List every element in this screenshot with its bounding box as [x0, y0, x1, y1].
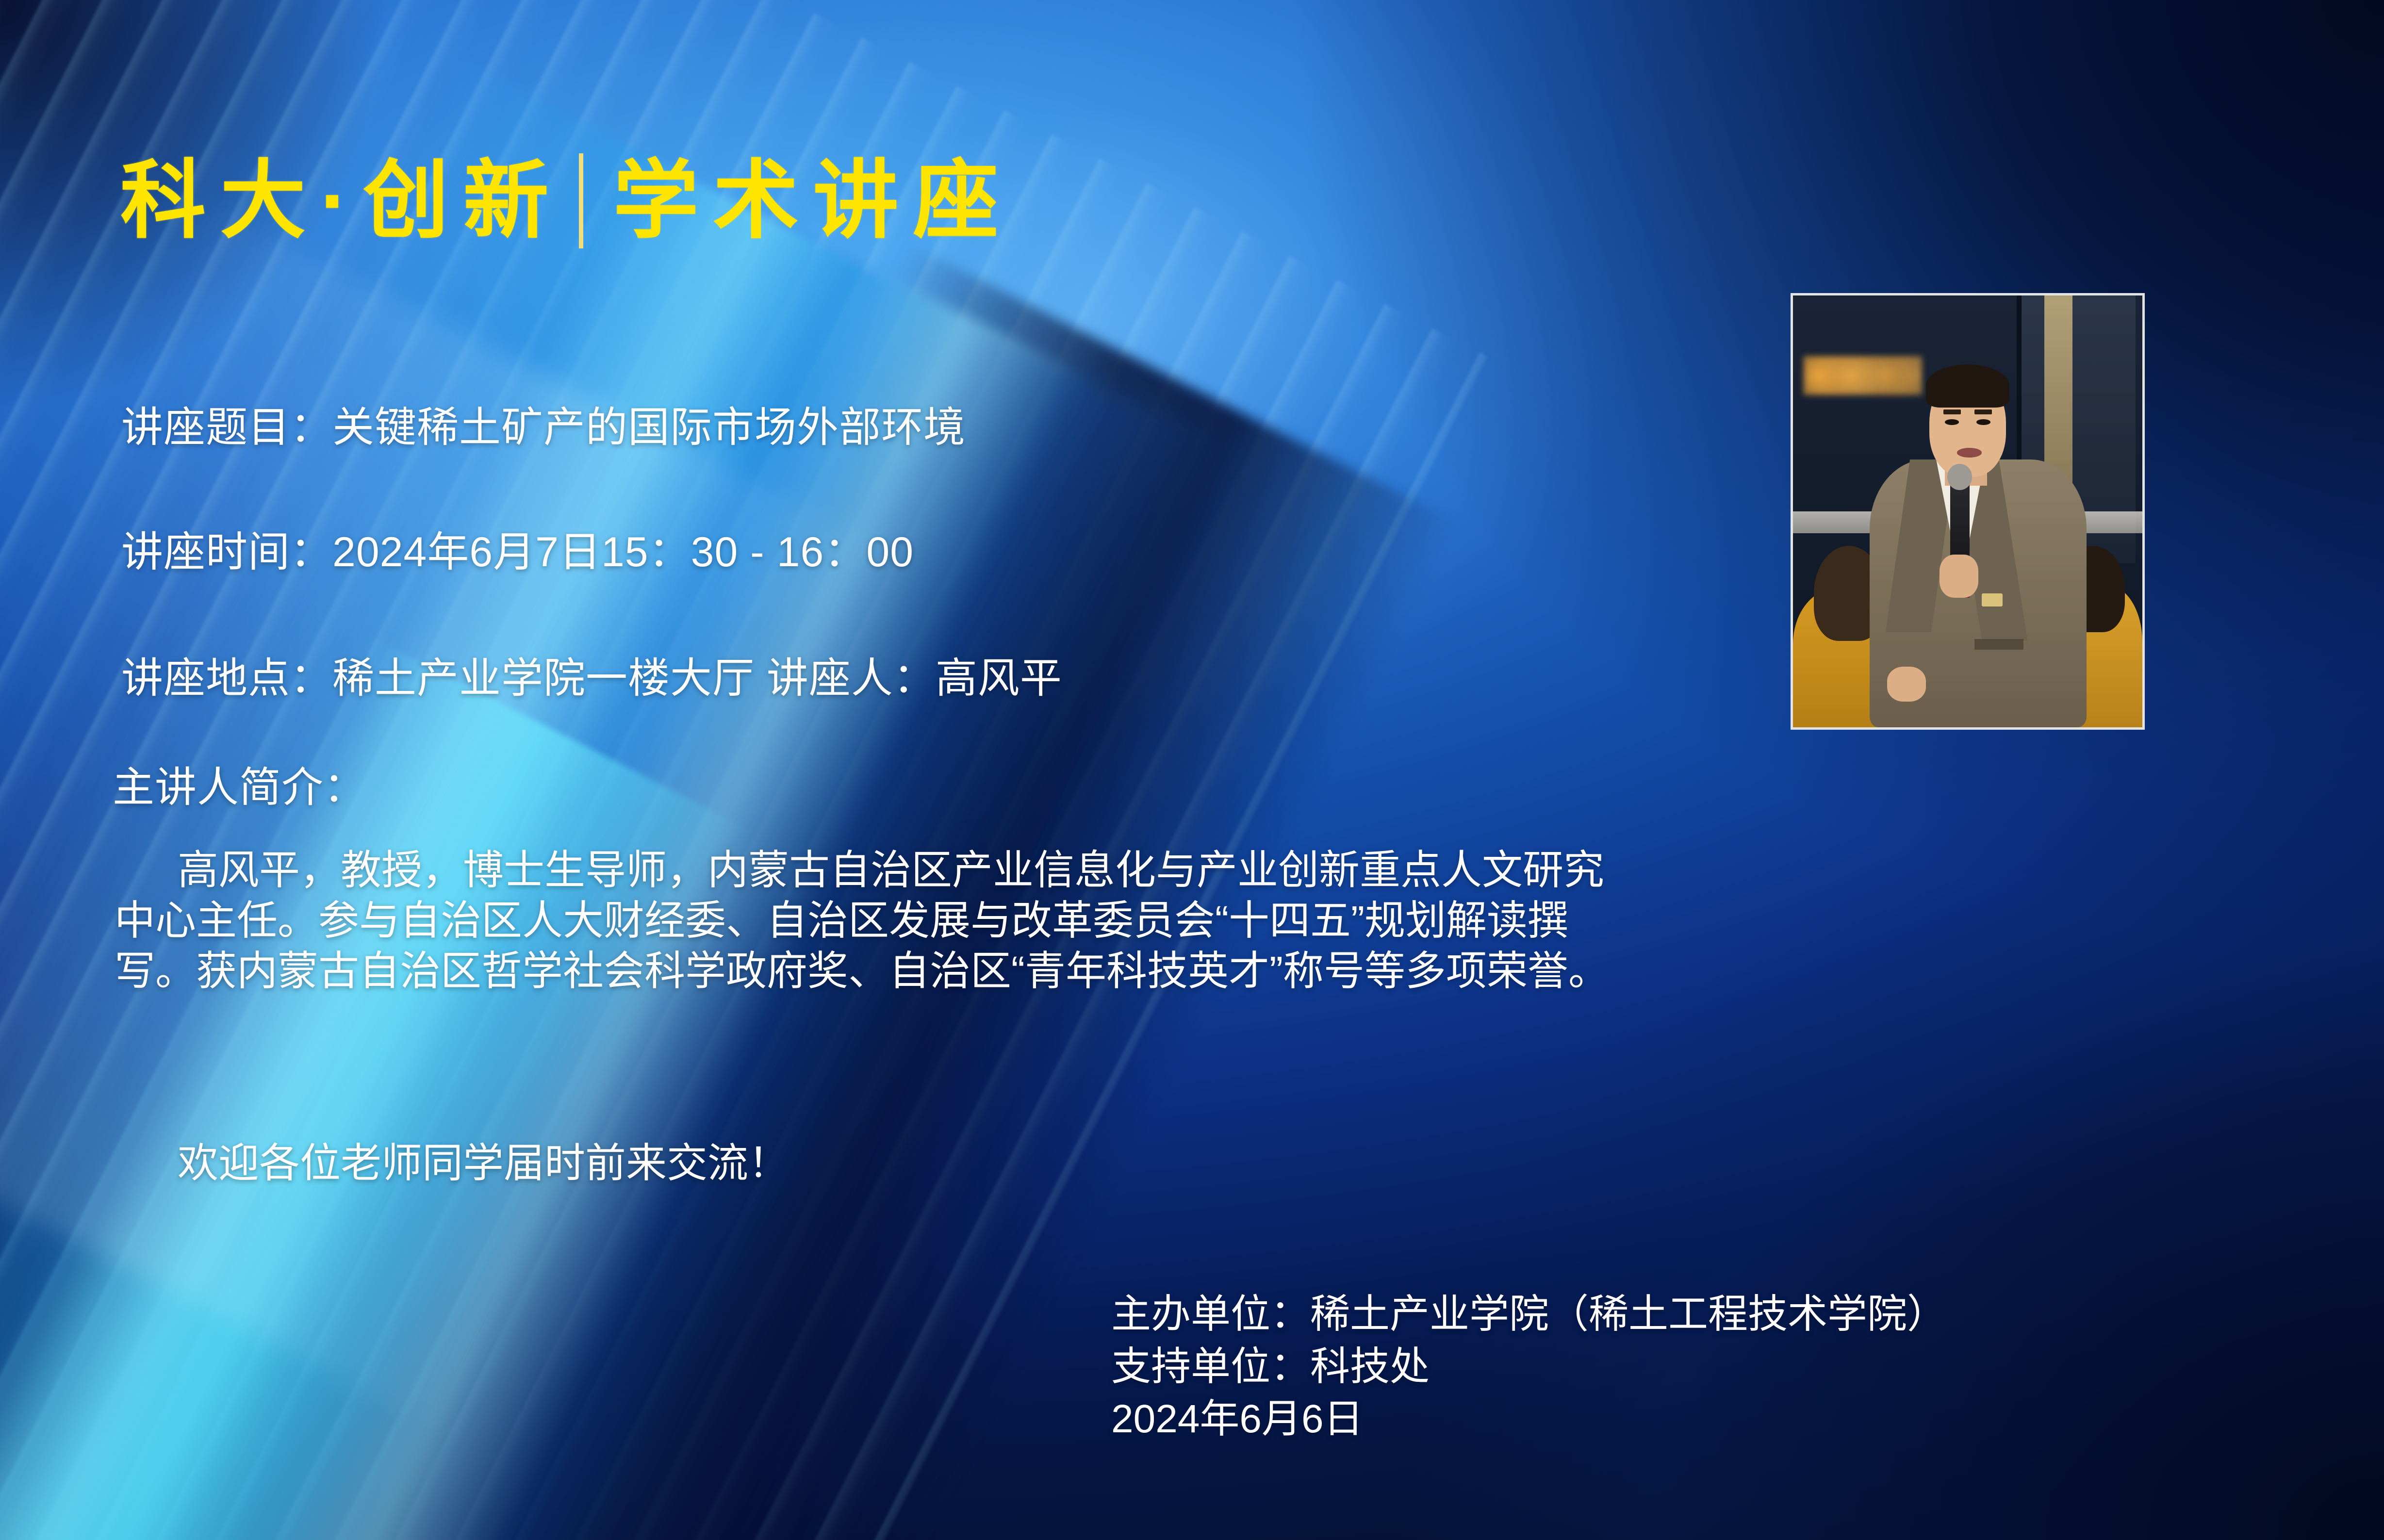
title-subject: 学术讲座 [613, 158, 1013, 244]
photo-hand-holding-mic [1940, 555, 1978, 598]
lecture-time-line: 讲座时间：2024年6月7日15：30 - 16：00 [121, 531, 914, 573]
photo-ceiling-lights [1804, 356, 1923, 395]
photo-microphone-head [1947, 464, 1972, 490]
bio-line-2: 中心主任。参与自治区人大财经委、自治区发展与改革委员会“十四五”规划解读撰 [115, 897, 2264, 944]
footer-organizer: 主办单位：稀土产业学院（稀土工程技术学院） [1111, 1288, 1947, 1341]
speaker-bio-heading: 主讲人简介： [113, 767, 366, 808]
footer-supporter: 支持单位：科技处 [1111, 1341, 1947, 1393]
photo-speaker-hair [1926, 364, 2010, 408]
welcome-text: 欢迎各位老师同学届时前来交流！ [178, 1140, 789, 1186]
footer-date: 2024年6月6日 [1111, 1393, 1947, 1445]
photo-suit-pocket [1974, 639, 2023, 650]
poster-title: 科大·创新 学术讲座 [120, 153, 1013, 248]
bio-line-1: 高风平，教授，博士生导师，内蒙古自治区产业信息化与产业创新重点人文研究 [115, 847, 2264, 893]
poster-footer: 主办单位：稀土产业学院（稀土工程技术学院） 支持单位：科技处 2024年6月6日 [1111, 1288, 1947, 1445]
title-separator-bar [579, 153, 583, 248]
speaker-bio-paragraph: 高风平，教授，博士生导师，内蒙古自治区产业信息化与产业创新重点人文研究 中心主任… [115, 847, 2264, 998]
title-brand: 科大·创新 [120, 158, 563, 244]
welcome-line: 欢迎各位老师同学届时前来交流！ [115, 1143, 789, 1183]
lecture-poster: 科大·创新 学术讲座 讲座题目：关键稀土矿产的国际市场外部环境 讲座时间：202… [0, 0, 2384, 1540]
bio-line-3: 写。获内蒙古自治区哲学社会科学政府奖、自治区“青年科技英才”称号等多项荣誉。 [115, 948, 2264, 994]
poster-content: 科大·创新 学术讲座 讲座题目：关键稀土矿产的国际市场外部环境 讲座时间：202… [0, 0, 2384, 1540]
photo-eye-right [1976, 419, 1990, 425]
lecture-place-and-speaker-line: 讲座地点：稀土产业学院一楼大厅 讲座人：高风平 [121, 657, 1062, 699]
photo-eye-left [1945, 419, 1959, 425]
photo-eyebrow-left [1943, 410, 1961, 414]
lecture-topic-line: 讲座题目：关键稀土矿产的国际市场外部环境 [121, 407, 966, 448]
photo-second-hand [1887, 667, 1925, 701]
photo-mouth [1957, 448, 1981, 458]
speaker-photo [1791, 293, 2145, 730]
photo-wristwatch [1982, 593, 2003, 606]
bio-line-1-text: 高风平，教授，博士生导师，内蒙古自治区产业信息化与产业创新重点人文研究 [178, 847, 1604, 893]
photo-eyebrow-right [1974, 410, 1992, 414]
